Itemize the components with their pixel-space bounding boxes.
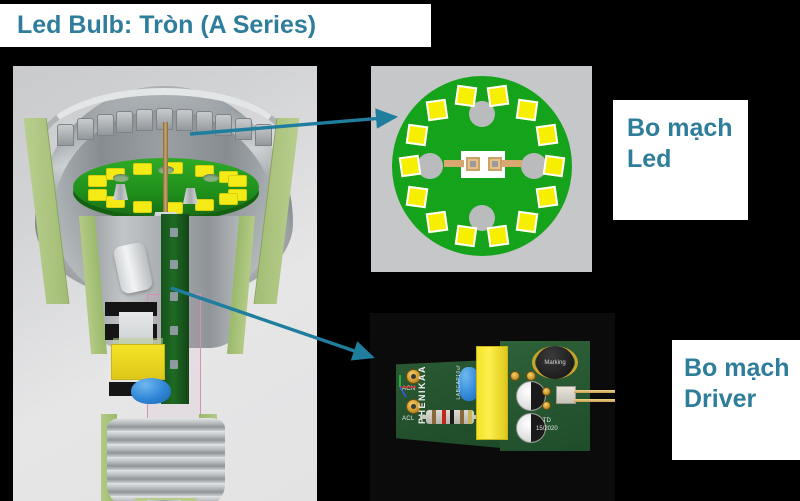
bulb-pcb-led <box>88 175 107 187</box>
bulb-pcb-led <box>219 193 238 205</box>
driver-date-code-line2: 15/2020 <box>536 425 558 433</box>
driver-marking-capacitor: Marking <box>536 346 574 379</box>
bulb-pcb-led <box>195 199 214 211</box>
led-pcb-led <box>406 123 429 146</box>
led-pcb-led <box>455 85 478 108</box>
bulb-pcb-led <box>228 175 247 187</box>
bulb-pcb-rivet <box>113 184 128 200</box>
driver-pad-a <box>510 371 520 381</box>
caption-driver-board: Bo mạch Driver <box>672 340 800 460</box>
bulb-pcb-led <box>88 189 107 201</box>
driver-yellow-transformer <box>476 346 508 440</box>
led-pcb-center-lead-left <box>444 160 464 167</box>
bulb-e27-screw-base <box>107 418 225 501</box>
led-pcb-center-die-2 <box>488 157 502 171</box>
bulb-pcb-rivet <box>183 188 198 204</box>
caption-driver-text: Bo mạch Driver <box>684 354 790 413</box>
driver-pad-b <box>526 371 536 381</box>
led-pcb-led <box>487 85 510 108</box>
bulb-driver-pcb-pad <box>170 326 178 335</box>
led-pcb-led <box>455 225 478 248</box>
page-title: Led Bulb: Tròn (A Series) <box>0 11 316 40</box>
led-pcb-led <box>426 98 449 121</box>
driver-output-wire-2 <box>574 399 615 402</box>
bulb-driver-pcb-pad <box>170 292 178 301</box>
driver-date-code: TD 15/2020 <box>536 417 558 433</box>
driver-output-connector <box>556 386 576 404</box>
bulb-blue-capacitor <box>131 378 171 404</box>
led-pcb-disc <box>392 76 572 256</box>
led-bulb-cutaway-image <box>13 66 317 501</box>
led-pcb-led <box>406 186 429 209</box>
bulb-pcb-led <box>133 201 152 213</box>
driver-output-wire-1 <box>574 390 615 393</box>
led-pcb-led <box>516 98 539 121</box>
bulb-pcb-led <box>133 163 152 175</box>
driver-pcb-origin-axes <box>398 373 418 399</box>
caption-led-text: Bo mạch Led <box>627 114 733 173</box>
led-pcb-image <box>371 66 592 272</box>
led-pcb-led <box>426 211 449 234</box>
driver-pcb-image: ACN ACL PHENIKAA LABCAP10uf Marking <box>370 313 615 501</box>
led-pcb-center-die-1 <box>466 157 480 171</box>
bulb-yellow-transformer <box>111 344 165 380</box>
led-pcb-mounting-hole <box>417 153 443 179</box>
slide-canvas: Led Bulb: Tròn (A Series) <box>0 0 800 501</box>
driver-date-code-line1: TD <box>536 417 558 425</box>
led-pcb-led <box>516 211 539 234</box>
led-pcb-led <box>536 123 559 146</box>
caption-led-board: Bo mạch Led <box>613 100 748 220</box>
led-pcb-led <box>543 155 566 178</box>
driver-pad-d <box>542 401 551 410</box>
led-pcb-led <box>487 225 510 248</box>
bulb-support-rod <box>163 122 168 218</box>
driver-terminal-acl-label: ACL <box>402 416 415 422</box>
bulb-pcb-hole <box>113 174 129 182</box>
bulb-driver-pcb-pad <box>170 360 178 369</box>
driver-resistor <box>426 410 474 424</box>
bulb-driver-pcb-pad <box>170 260 178 269</box>
driver-blue-capacitor-label: LABCAP10uf <box>456 365 462 399</box>
led-pcb-center-lead-right <box>502 160 522 167</box>
bulb-internal-driver-pcb <box>161 214 189 404</box>
driver-pad-c <box>542 387 551 396</box>
bulb-driver-pcb-pad <box>170 228 178 237</box>
bulb-pcb-hole <box>203 174 219 182</box>
led-pcb-led <box>536 186 559 209</box>
slide-title-box: Led Bulb: Tròn (A Series) <box>0 4 431 47</box>
led-pcb-led <box>399 155 422 178</box>
